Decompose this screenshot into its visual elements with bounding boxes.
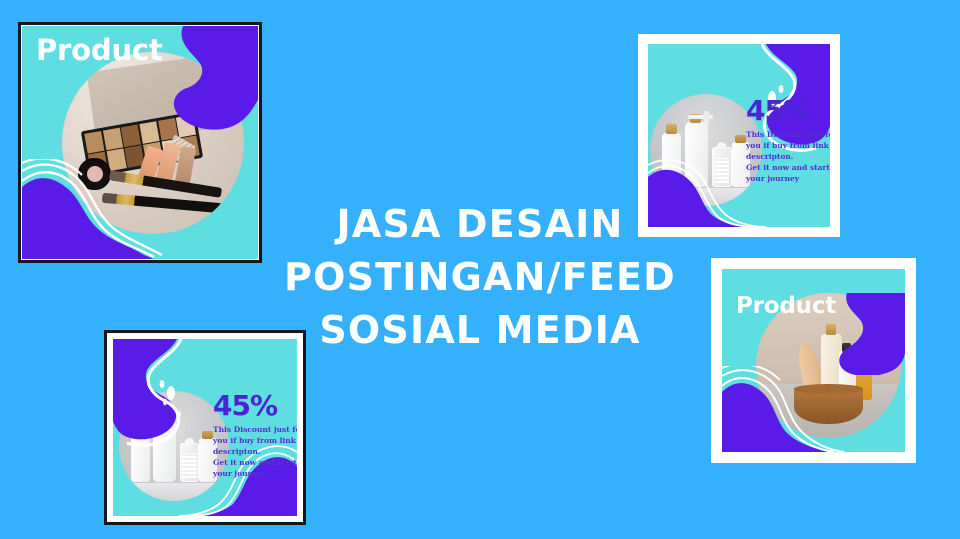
page-title: JASA DESAIN POSTINGAN/FEED SOSIAL MEDIA (268, 198, 692, 357)
discount-card-bottom-left[interactable]: 45% This Discount just for you if buy fr… (104, 330, 306, 525)
product-label: Product (736, 293, 836, 319)
discount-card-top-right[interactable]: 45% This Discount just for you if buy fr… (638, 34, 840, 237)
title-line-1: JASA DESAIN (268, 198, 692, 251)
card-canvas: 45% This Discount just for you if buy fr… (648, 44, 830, 227)
makeup-flatlay-photo (62, 52, 244, 234)
poster-canvas: JASA DESAIN POSTINGAN/FEED SOSIAL MEDIA (0, 0, 960, 539)
discount-percent: 45% (213, 389, 277, 422)
card-canvas: 45% This Discount just for you if buy fr… (113, 339, 297, 516)
card-canvas: Product (22, 26, 258, 259)
discount-description: This Discount just for you if buy from l… (213, 424, 297, 479)
title-line-2: POSTINGAN/FEED (268, 251, 692, 304)
discount-percent: 45% (746, 94, 810, 127)
product-card-top-left[interactable]: Product (18, 22, 262, 263)
discount-description: This Discount just for you if buy from l… (746, 129, 830, 184)
product-card-bottom-right[interactable]: Product (711, 258, 916, 463)
product-label: Product (36, 33, 163, 67)
title-line-3: SOSIAL MEDIA (268, 304, 692, 357)
card-canvas: Product (722, 269, 905, 452)
